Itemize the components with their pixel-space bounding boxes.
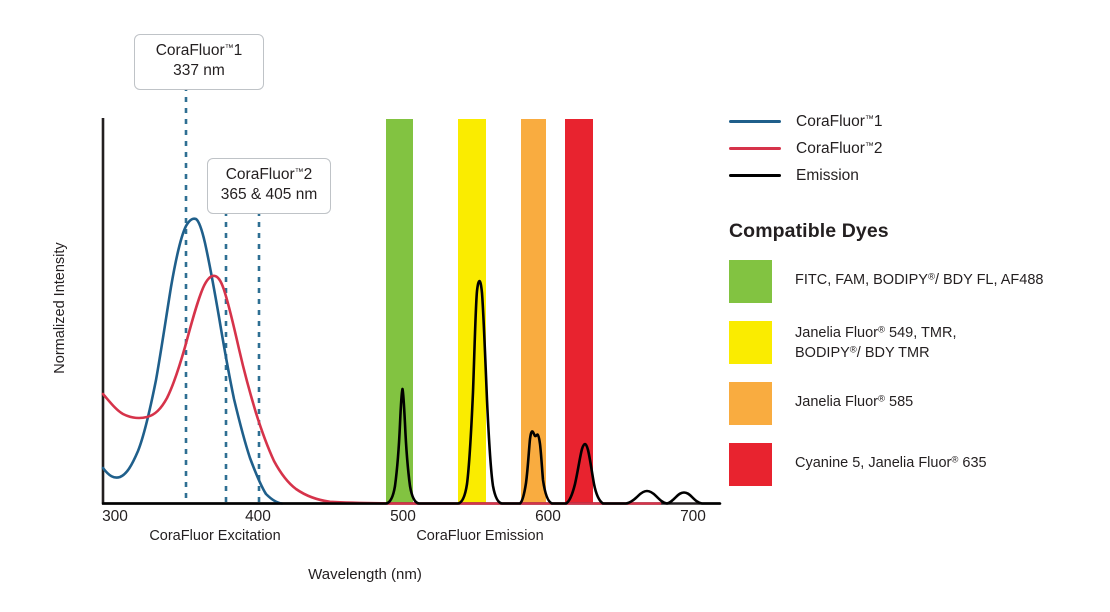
legend-item-emission: Emission: [729, 162, 1104, 189]
dye-row-red: Cyanine 5, Janelia Fluor® 635: [729, 443, 1104, 486]
callout-2-line1: CoraFluor: [226, 166, 295, 183]
dye-label-red: Cyanine 5, Janelia Fluor® 635: [795, 443, 987, 473]
legend-item-corafluor1: CoraFluor™1: [729, 108, 1104, 135]
band-orange: [521, 119, 546, 503]
region-label-emission: CoraFluor Emission: [380, 528, 580, 544]
legend-item-corafluor2: CoraFluor™2: [729, 135, 1104, 162]
dye-swatch-green: [729, 260, 772, 303]
dye-swatch-red: [729, 443, 772, 486]
legend-label-emission: Emission: [796, 167, 859, 185]
callout-1-line2: 337 nm: [145, 61, 253, 81]
legend-line-swatch-emission: [729, 174, 781, 177]
callout-1-line1: CoraFluor: [156, 42, 225, 59]
legend-line-swatch-corafluor2: [729, 147, 781, 150]
x-tick-400: 400: [223, 508, 293, 526]
dye-swatch-orange: [729, 382, 772, 425]
x-axis-title: Wavelength (nm): [0, 566, 730, 583]
x-tick-600: 600: [513, 508, 583, 526]
legend-line-swatch-corafluor1: [729, 120, 781, 123]
legend-panel: CoraFluor™1 CoraFluor™2 Emission Compati…: [729, 108, 1104, 504]
compatible-dyes-list: FITC, FAM, BODIPY®/ BDY FL, AF488 Janeli…: [729, 260, 1104, 486]
trademark-symbol: ™: [295, 166, 304, 176]
dye-label-yellow: Janelia Fluor® 549, TMR,BODIPY®/ BDY TMR: [795, 321, 956, 363]
region-label-excitation: CoraFluor Excitation: [115, 528, 315, 544]
dye-row-orange: Janelia Fluor® 585: [729, 382, 1104, 425]
band-red: [565, 119, 593, 503]
dye-row-yellow: Janelia Fluor® 549, TMR,BODIPY®/ BDY TMR: [729, 321, 1104, 364]
legend-label-corafluor2: CoraFluor™2: [796, 140, 883, 158]
callout-1-number: 1: [234, 42, 243, 59]
x-tick-500: 500: [368, 508, 438, 526]
dye-swatch-yellow: [729, 321, 772, 364]
trademark-symbol: ™: [225, 42, 234, 52]
compatible-dyes-heading: Compatible Dyes: [729, 220, 1104, 243]
dye-label-green: FITC, FAM, BODIPY®/ BDY FL, AF488: [795, 260, 1043, 290]
callout-corafluor1: CoraFluor™1 337 nm: [134, 34, 264, 90]
fluorescence-spectra-figure: CoraFluor™1 337 nm CoraFluor™2 365 & 405…: [0, 0, 1110, 612]
dye-row-green: FITC, FAM, BODIPY®/ BDY FL, AF488: [729, 260, 1104, 303]
y-axis-title: Normalized Intensity: [52, 218, 68, 398]
callout-2-line2: 365 & 405 nm: [218, 185, 320, 205]
x-tick-700: 700: [658, 508, 728, 526]
x-tick-300: 300: [80, 508, 150, 526]
excitation-marker-lines: [186, 86, 259, 503]
callout-2-number: 2: [304, 166, 313, 183]
legend-label-corafluor1: CoraFluor™1: [796, 113, 883, 131]
curve-corafluor1: [103, 219, 282, 504]
dye-label-orange: Janelia Fluor® 585: [795, 382, 913, 412]
callout-corafluor2: CoraFluor™2 365 & 405 nm: [207, 158, 331, 214]
